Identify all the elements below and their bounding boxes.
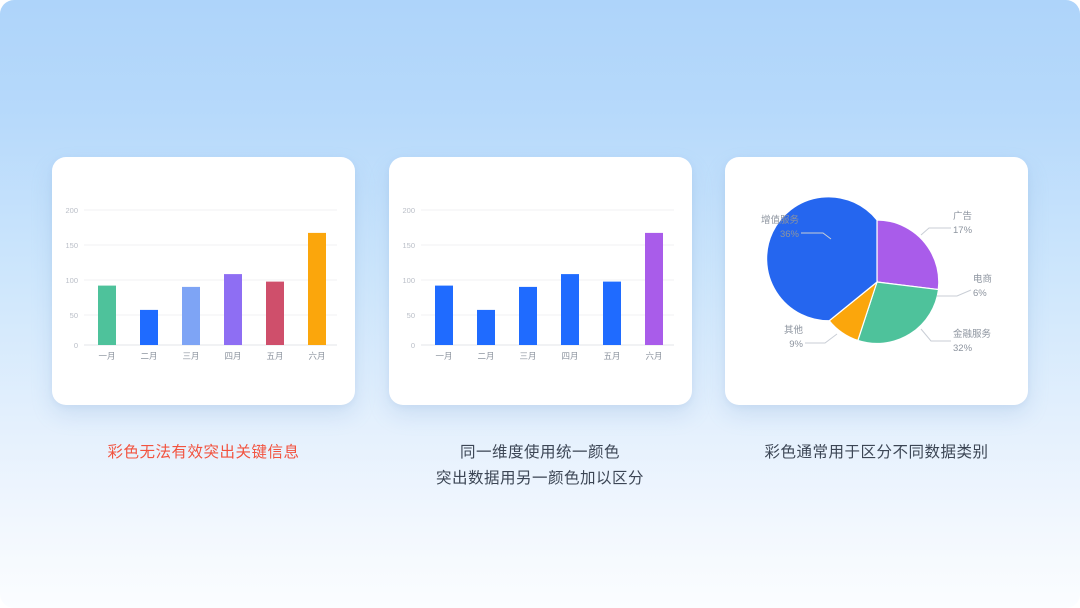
- slide-canvas: 200 150 100 50 0 一月 二月 三月 四月: [0, 0, 1080, 608]
- pie-label-qita-name: 其他: [784, 324, 804, 336]
- pie-label-dianshang-name: 电商: [973, 273, 992, 285]
- bar-feb[interactable]: [140, 310, 158, 345]
- pie-label-jinrong-value: 32%: [953, 343, 973, 354]
- caption-line: 突出数据用另一颜色加以区分: [389, 466, 692, 492]
- xtick-label: 五月: [603, 351, 620, 361]
- pie-chart-svg: 增值服务 36% 广告 17% 电商 6% 金融服务 32% 其他 9%: [725, 157, 1028, 405]
- pie-label-zengzhi-value: 36%: [780, 229, 800, 240]
- single-color-bar-card[interactable]: 200 150 100 50 0 一月 二月 三月 四月 五月: [389, 157, 692, 405]
- captions-row: 彩色无法有效突出关键信息 同一维度使用统一颜色 突出数据用另一颜色加以区分 彩色…: [52, 440, 1028, 492]
- xtick-label: 五月: [266, 351, 283, 361]
- bar-jan[interactable]: [435, 286, 453, 345]
- pie-label-guanggao-name: 广告: [953, 210, 972, 222]
- xtick-label: 六月: [645, 351, 662, 361]
- caption-pie: 彩色通常用于区分不同数据类别: [725, 440, 1028, 492]
- bar-may[interactable]: [603, 282, 621, 345]
- bar-jun-highlight[interactable]: [645, 233, 663, 345]
- bar-chart-1-svg: 200 150 100 50 0 一月 二月 三月 四月: [52, 157, 355, 405]
- ytick-label: 150: [65, 241, 78, 250]
- ytick-label: 150: [402, 241, 415, 250]
- bar-may[interactable]: [266, 282, 284, 345]
- pie-label-qita-value: 9%: [789, 339, 803, 350]
- bar-chart-2-svg: 200 150 100 50 0 一月 二月 三月 四月 五月: [389, 157, 692, 405]
- bar-apr[interactable]: [224, 274, 242, 345]
- multi-color-bar-card[interactable]: 200 150 100 50 0 一月 二月 三月 四月: [52, 157, 355, 405]
- leader-line-jinrong: [921, 329, 951, 341]
- caption-line: 同一维度使用统一颜色: [389, 440, 692, 466]
- bar-mar[interactable]: [182, 287, 200, 345]
- pie-label-jinrong-name: 金融服务: [953, 328, 992, 340]
- caption-multi-color: 彩色无法有效突出关键信息: [52, 440, 355, 492]
- ytick-label: 200: [402, 206, 415, 215]
- pie-chart: 增值服务 36% 广告 17% 电商 6% 金融服务 32% 其他 9%: [725, 157, 1028, 405]
- bar-jan[interactable]: [98, 286, 116, 345]
- multi-color-bar-chart: 200 150 100 50 0 一月 二月 三月 四月: [52, 157, 355, 405]
- xtick-label: 四月: [224, 351, 241, 361]
- xtick-label: 三月: [182, 351, 199, 361]
- ytick-label: 200: [65, 206, 78, 215]
- ytick-label: 50: [406, 311, 414, 320]
- ytick-label: 0: [74, 341, 78, 350]
- caption-single-color: 同一维度使用统一颜色 突出数据用另一颜色加以区分: [389, 440, 692, 492]
- pie-label-guanggao-value: 17%: [953, 225, 973, 236]
- pie-card[interactable]: 增值服务 36% 广告 17% 电商 6% 金融服务 32% 其他 9%: [725, 157, 1028, 405]
- pie-label-dianshang-value: 6%: [973, 288, 987, 299]
- xtick-label: 三月: [519, 351, 536, 361]
- xtick-label: 四月: [561, 351, 578, 361]
- xtick-label: 一月: [98, 351, 115, 361]
- ytick-label: 0: [410, 341, 414, 350]
- caption-line: 彩色无法有效突出关键信息: [52, 440, 355, 466]
- bar-feb[interactable]: [477, 310, 495, 345]
- xtick-label: 二月: [477, 351, 494, 361]
- ytick-label: 50: [70, 311, 78, 320]
- bar-mar[interactable]: [519, 287, 537, 345]
- caption-line: 彩色通常用于区分不同数据类别: [725, 440, 1028, 466]
- ytick-label: 100: [65, 276, 78, 285]
- bar-jun[interactable]: [308, 233, 326, 345]
- ytick-label: 100: [402, 276, 415, 285]
- leader-line-guanggao: [921, 228, 951, 235]
- single-color-bar-chart: 200 150 100 50 0 一月 二月 三月 四月 五月: [389, 157, 692, 405]
- cards-row: 200 150 100 50 0 一月 二月 三月 四月: [52, 157, 1028, 405]
- xtick-label: 六月: [308, 351, 325, 361]
- bar-apr[interactable]: [561, 274, 579, 345]
- leader-line-dianshang: [937, 290, 971, 296]
- xtick-label: 二月: [140, 351, 157, 361]
- xtick-label: 一月: [435, 351, 452, 361]
- pie-label-zengzhi-name: 增值服务: [761, 214, 800, 226]
- leader-line-qita: [805, 334, 837, 343]
